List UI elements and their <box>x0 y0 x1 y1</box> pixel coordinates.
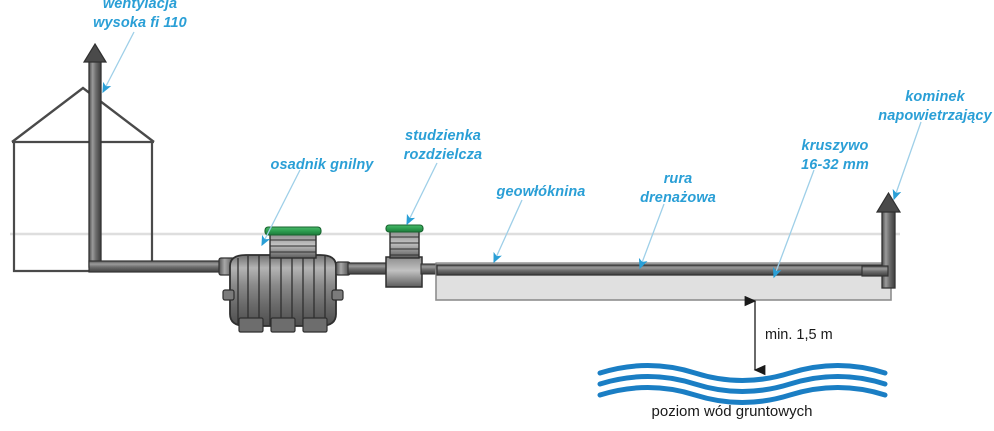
leader-geowloknina <box>494 200 522 262</box>
tank-to-well-pipe <box>348 263 390 274</box>
label-studzienka: studzienkarozdzielcza <box>404 128 482 163</box>
groundwater-level <box>600 366 885 403</box>
septic-tank <box>219 227 350 332</box>
house-roof <box>12 88 154 142</box>
tank-body <box>230 255 336 326</box>
house <box>12 88 154 271</box>
depth-dimension: min. 1,5 m <box>755 301 833 370</box>
house-walls <box>14 143 152 271</box>
chimney-elbow <box>862 266 888 276</box>
callout-labels: wentylacjawysoka fi 110 osadnik gnilny s… <box>93 0 992 206</box>
leader-rura <box>640 204 664 268</box>
label-kominek: komineknapowietrzający <box>878 89 992 124</box>
callout-leaders <box>103 32 921 277</box>
label-geowloknina: geowłóknina <box>496 184 586 200</box>
well-outlet-socket <box>421 264 437 274</box>
aeration-chimney-cap-icon <box>877 193 900 212</box>
leader-wentylacja <box>103 32 134 92</box>
vent-stack-pipe <box>89 57 101 267</box>
label-wentylacja: wentylacjawysoka fi 110 <box>93 0 187 31</box>
label-kruszywo: kruszywo16-32 mm <box>801 138 869 173</box>
label-osadnik: osadnik gnilny <box>271 157 375 173</box>
house-outlet-pipe <box>89 261 225 272</box>
aeration-chimney <box>862 193 900 288</box>
well-base <box>386 257 422 287</box>
leader-kominek <box>894 122 921 199</box>
well-riser <box>390 231 419 258</box>
diagram-canvas: min. 1,5 m poziom wód gruntowych wentyla… <box>0 0 994 431</box>
well-lid <box>386 225 423 232</box>
leader-studzienka <box>407 163 437 224</box>
drainage-pipe <box>437 265 887 275</box>
groundwater-label: poziom wód gruntowych <box>652 403 813 420</box>
tank-feet <box>239 318 327 332</box>
leader-kruszywo <box>774 170 814 277</box>
label-rura: ruradrenażowa <box>640 171 716 206</box>
dimension-label: min. 1,5 m <box>765 327 833 343</box>
tank-lid <box>265 227 321 235</box>
vent-stack-cap-icon <box>84 44 106 62</box>
septic-drainage-cross-section: min. 1,5 m poziom wód gruntowych wentyla… <box>0 0 994 431</box>
